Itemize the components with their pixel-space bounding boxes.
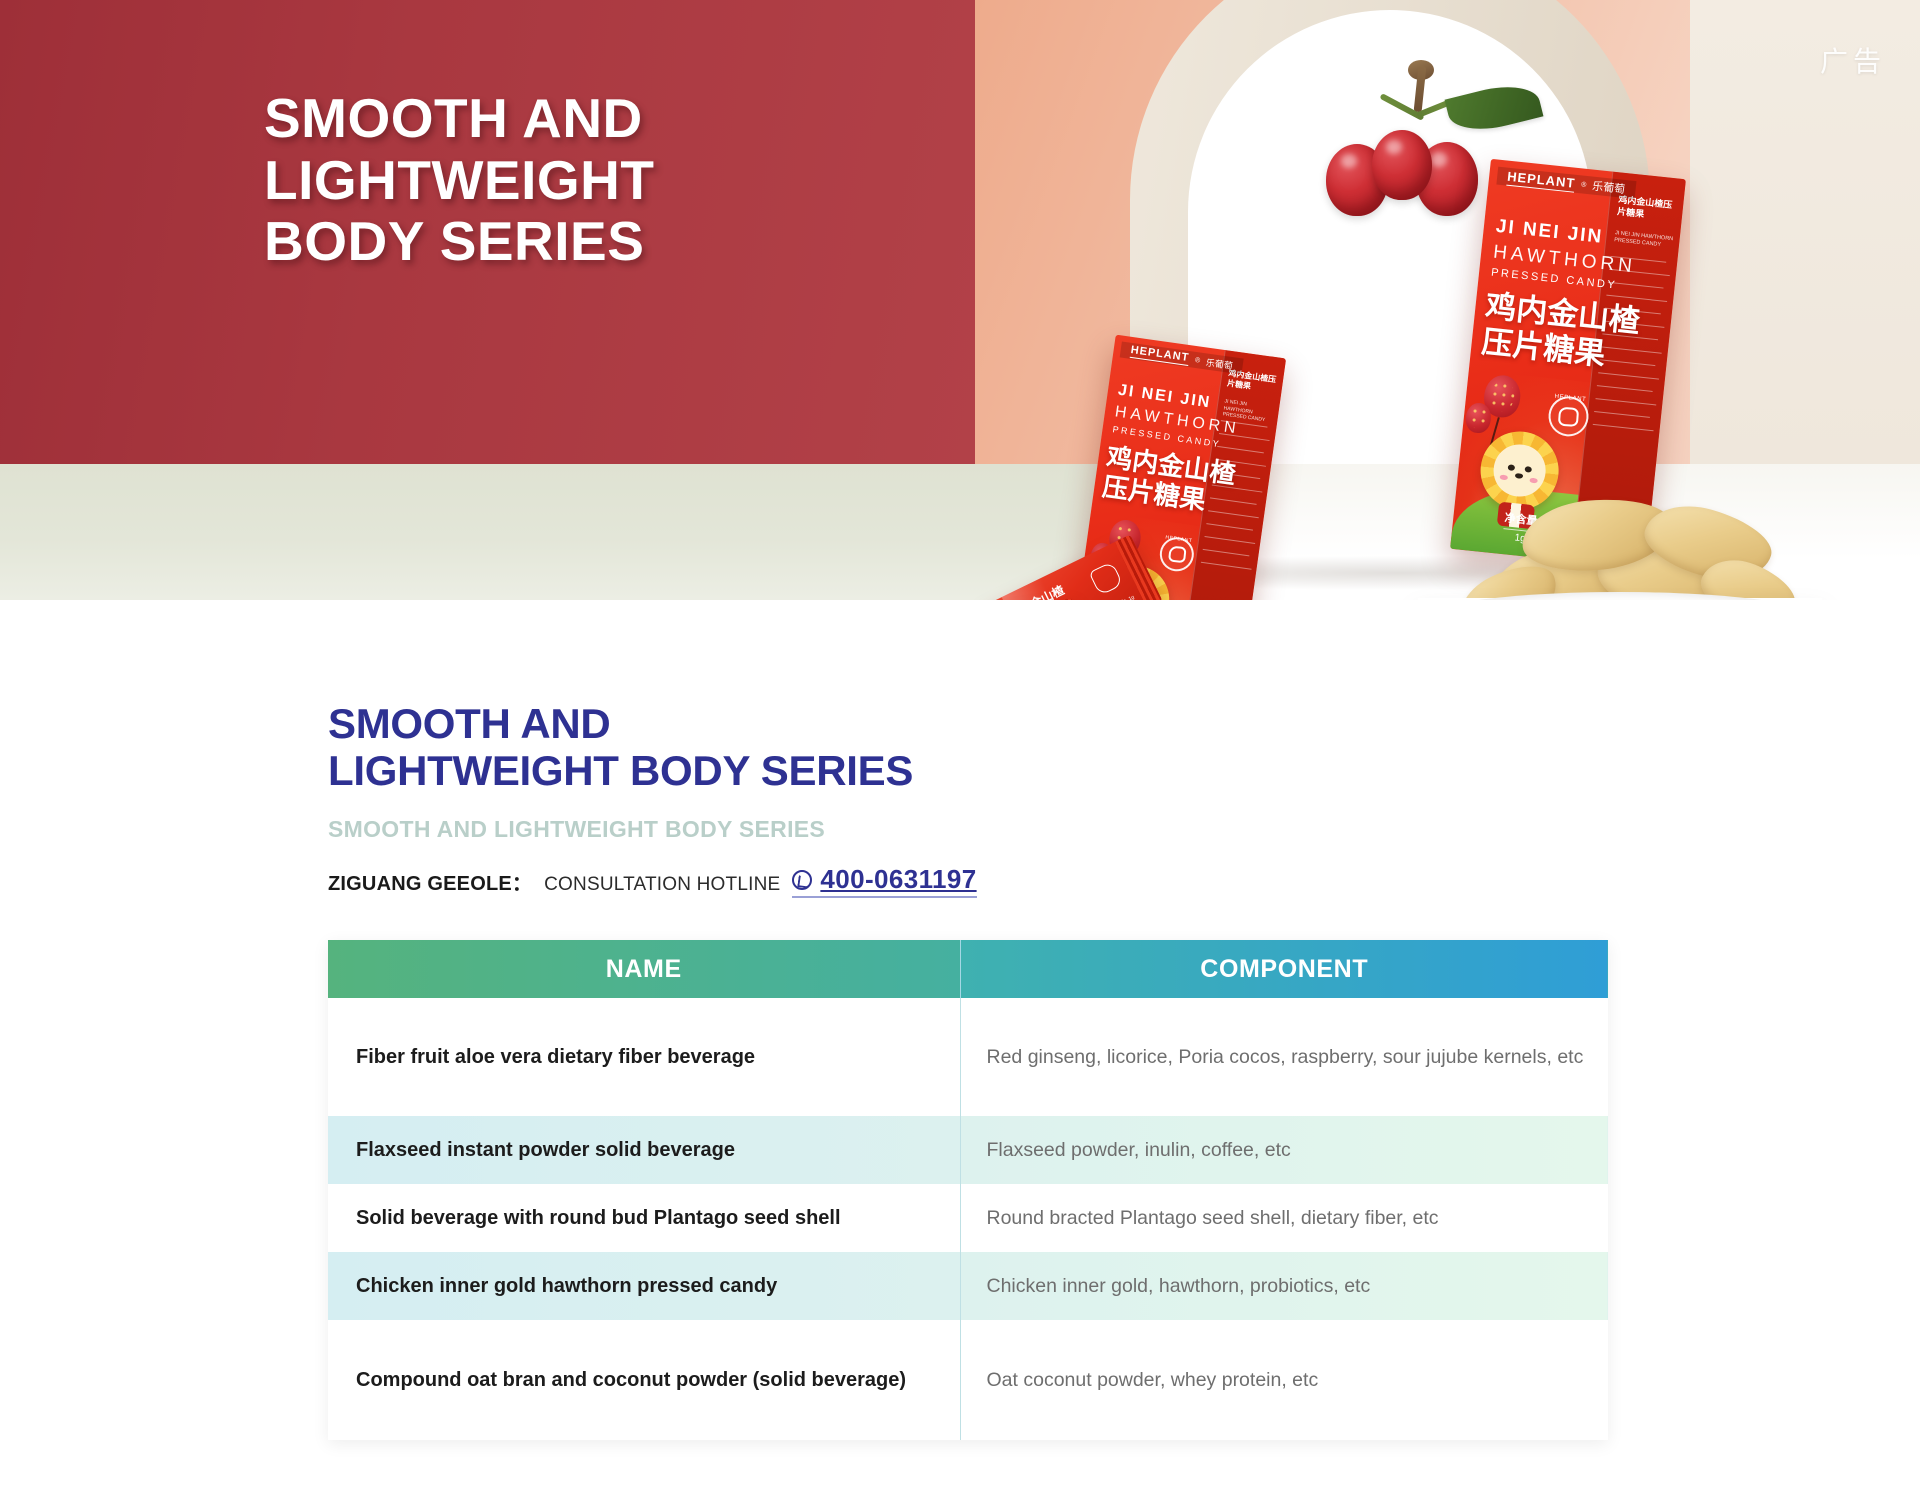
table-row: Chicken inner gold hawthorn pressed cand… [328, 1252, 1608, 1320]
mascot-nose [1515, 473, 1523, 479]
mascot-blush-right [1529, 478, 1537, 483]
hero-title-line-1: SMOOTH AND [264, 88, 654, 150]
cell-component: Flaxseed powder, inulin, coffee, etc [960, 1116, 1608, 1184]
cell-name: Compound oat bran and coconut powder (so… [328, 1320, 960, 1440]
hero-title-line-2: LIGHTWEIGHT [264, 150, 654, 212]
section-subtitle: SMOOTH AND LIGHTWEIGHT BODY SERIES [328, 816, 825, 843]
dried-hawthorn-chips [1448, 494, 1792, 600]
seal-triangle-icon [1558, 406, 1579, 426]
consultation-hotline: ZIGUANG GEEOLE： CONSULTATION HOTLINE 400… [328, 864, 977, 898]
mascot-eye-right [1525, 466, 1533, 473]
brand-name-cn: 乐葡萄 [1205, 355, 1234, 372]
brand-name-cn: 乐葡萄 [1592, 178, 1626, 197]
brand-registered-mark: ® [1195, 356, 1201, 364]
table-row: Solid beverage with round bud Plantago s… [328, 1184, 1608, 1252]
sachet-seal-icon [1089, 561, 1124, 596]
phone-icon [792, 870, 812, 890]
cell-name: Chicken inner gold hawthorn pressed cand… [328, 1252, 960, 1320]
cell-name: Solid beverage with round bud Plantago s… [328, 1184, 960, 1252]
balloon-dots [1488, 380, 1516, 413]
brand-name-en: HEPLANT [1506, 168, 1576, 192]
section-title: SMOOTH AND LIGHTWEIGHT BODY SERIES [328, 700, 913, 794]
cell-component: Oat coconut powder, whey protein, etc [960, 1320, 1608, 1440]
dried-hawthorn-bowl [1418, 556, 1822, 600]
table-row: Flaxseed instant powder solid beverage F… [328, 1116, 1608, 1184]
hawthorn-berry [1372, 130, 1432, 200]
hotline-brand-label: ZIGUANG GEEOLE： [328, 867, 532, 896]
table-row: Fiber fruit aloe vera dietary fiber beve… [328, 998, 1608, 1116]
hero-title: SMOOTH AND LIGHTWEIGHT BODY SERIES [264, 88, 654, 273]
box-side-title-cn: 鸡内金山楂压片糖果 [1617, 194, 1677, 223]
seal-triangle-icon [1168, 546, 1186, 563]
column-header-component: COMPONENT [960, 940, 1608, 998]
hero-banner: 广告 SMOOTH AND LIGHTWEIGHT BODY SERIES 鸡内… [0, 0, 1920, 600]
advertisement-badge: 广告 [1820, 40, 1886, 80]
section-title-line-1: SMOOTH AND [328, 700, 913, 747]
table-row: Compound oat bran and coconut powder (so… [328, 1320, 1608, 1440]
box-side-title-en: JI NEI JIN HAWTHORN PRESSED CANDY [1614, 230, 1675, 250]
mascot-blush-left [1500, 475, 1508, 480]
balloon-dots [1469, 406, 1488, 429]
column-header-name: NAME [328, 940, 960, 998]
main-content: SMOOTH AND LIGHTWEIGHT BODY SERIES SMOOT… [0, 600, 1920, 1504]
cell-name: Fiber fruit aloe vera dietary fiber beve… [328, 998, 960, 1116]
cell-name: Flaxseed instant powder solid beverage [328, 1116, 960, 1184]
cell-component: Round bracted Plantago seed shell, dieta… [960, 1184, 1608, 1252]
section-title-line-2: LIGHTWEIGHT BODY SERIES [328, 747, 913, 794]
mascot-eye-left [1507, 464, 1515, 471]
table-header-row: NAME COMPONENT [328, 940, 1608, 998]
hotline-phone-number: 400-0631197 [820, 864, 976, 895]
hotline-text-label: CONSULTATION HOTLINE [544, 874, 780, 896]
brand-name-en: HEPLANT [1130, 344, 1190, 366]
cell-component: Chicken inner gold, hawthorn, probiotics… [960, 1252, 1608, 1320]
cell-component: Red ginseng, licorice, Poria cocos, rasp… [960, 998, 1608, 1116]
hawthorn-leaf [1445, 77, 1544, 138]
hotline-phone-link[interactable]: 400-0631197 [792, 864, 976, 898]
product-component-table: NAME COMPONENT Fiber fruit aloe vera die… [328, 940, 1608, 1440]
hero-title-line-3: BODY SERIES [264, 211, 654, 273]
brand-registered-mark: ® [1581, 181, 1587, 189]
